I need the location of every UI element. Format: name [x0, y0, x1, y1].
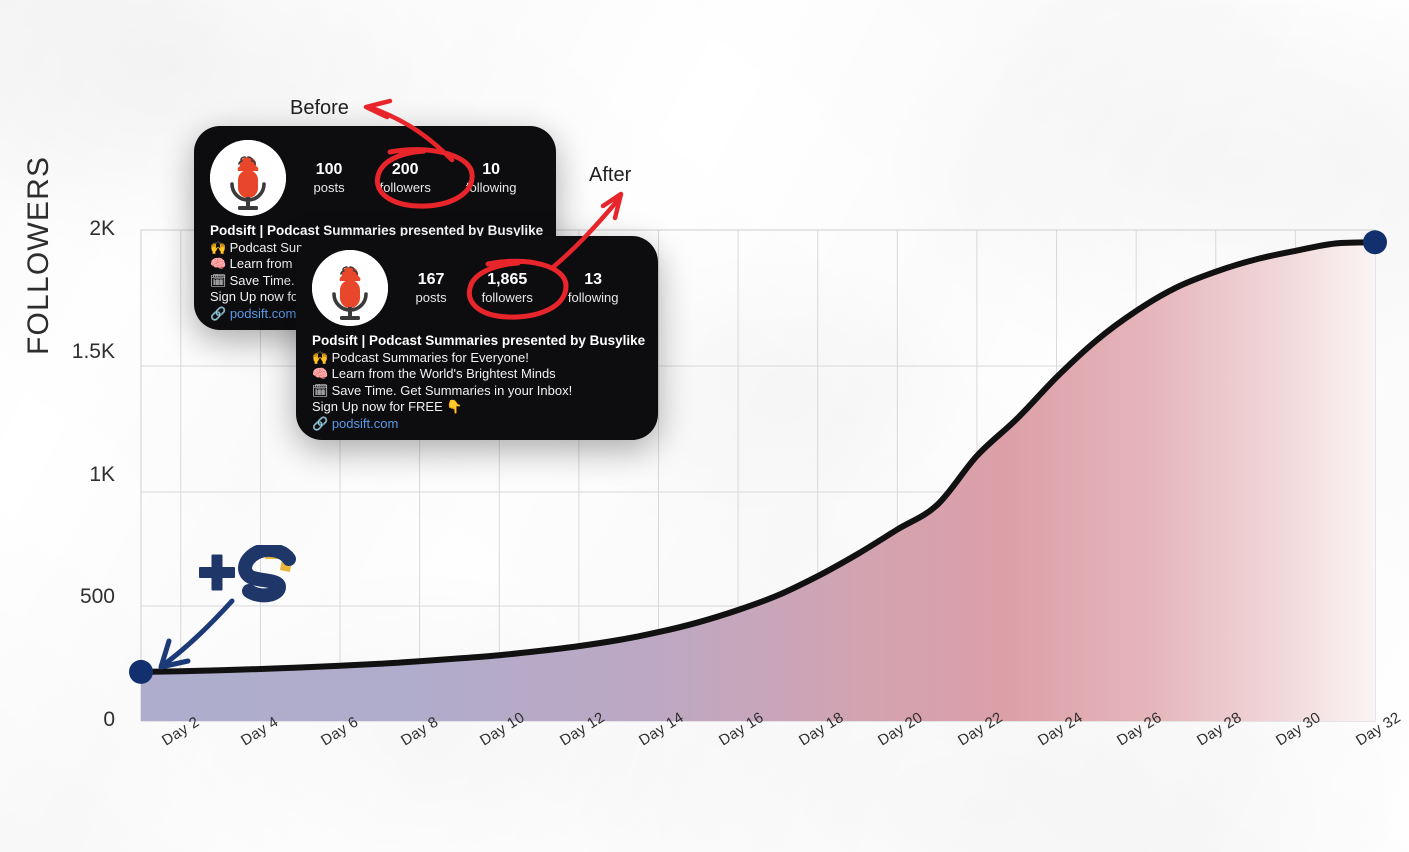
stat-value: 10	[466, 160, 517, 180]
stat-value: 200	[380, 160, 431, 180]
y-axis-title: FOLLOWERS	[22, 156, 56, 355]
stat-value: 13	[568, 270, 619, 290]
bio-title: Podsift | Podcast Summaries presented by…	[312, 332, 642, 350]
brain-emoji-icon: 🧠	[312, 366, 328, 383]
profile-header-before: 100 posts 200 followers 10 following	[194, 126, 556, 222]
y-tick-500: 500	[45, 585, 115, 609]
y-tick-1K: 1K	[45, 463, 115, 487]
profile-bio-after: Podsift | Podcast Summaries presented by…	[296, 332, 658, 432]
stat-following-after: 13 following	[568, 270, 619, 306]
bio-link-text: podsift.com	[332, 416, 398, 431]
after-label: After	[589, 164, 631, 187]
link-chain-icon: 🔗	[210, 306, 226, 321]
stat-posts-before: 100 posts	[314, 160, 345, 196]
stat-followers-before: 200 followers	[380, 160, 431, 196]
stat-following-before: 10 following	[466, 160, 517, 196]
stat-label: followers	[482, 290, 533, 306]
bio-line: 🗓 Save Time. Get Summaries in your Inbox…	[312, 383, 642, 400]
y-tick-2K: 2K	[45, 217, 115, 241]
start-point-marker	[129, 660, 153, 684]
raised-hands-emoji-icon: 🙌	[312, 350, 328, 367]
stat-label: posts	[416, 290, 447, 306]
bio-line: 🙌 Podcast Summaries for Everyone!	[312, 350, 642, 367]
stat-value: 1,865	[482, 270, 533, 290]
bio-line: 🧠 Learn from the World's Brightest Minds	[312, 366, 642, 383]
bio-link-text: podsift.com	[230, 306, 296, 321]
podcast-brain-microphone-icon	[312, 250, 388, 326]
raised-hands-emoji-icon: 🙌	[210, 240, 226, 257]
end-point-marker	[1363, 230, 1387, 254]
brain-emoji-icon: 🧠	[210, 256, 226, 273]
stat-label: following	[466, 180, 517, 196]
podcast-brain-microphone-icon	[210, 140, 286, 216]
chart-canvas: FOLLOWERS 05001K1.5K2K Day 2Day 4Day 6Da…	[0, 0, 1409, 852]
stat-followers-after: 1,865 followers	[482, 270, 533, 306]
profile-stats-before: 100 posts 200 followers 10 following	[296, 160, 540, 196]
stat-value: 167	[416, 270, 447, 290]
bio-line-text: Podcast Summaries for Everyone!	[332, 350, 529, 365]
stat-label: following	[568, 290, 619, 306]
stat-posts-after: 167 posts	[416, 270, 447, 306]
bio-line-text: Learn from the World's Brightest Minds	[332, 366, 556, 381]
bio-website-link[interactable]: 🔗 podsift.com	[312, 416, 642, 433]
before-label: Before	[290, 97, 349, 120]
bio-line-text: Save Time. Get Summaries in your Inbox!	[332, 383, 573, 398]
bio-cta: Sign Up now for FREE 👇	[312, 399, 642, 416]
calendar-emoji-icon: 🗓	[312, 383, 328, 400]
y-tick-0: 0	[45, 708, 115, 732]
y-tick-1.5K: 1.5K	[45, 340, 115, 364]
stat-label: followers	[380, 180, 431, 196]
stat-label: posts	[314, 180, 345, 196]
profile-header-after: 167 posts 1,865 followers 13 following	[296, 236, 658, 332]
profile-avatar-after[interactable]	[312, 250, 388, 326]
stat-value: 100	[314, 160, 345, 180]
calendar-emoji-icon: 🗓	[210, 273, 226, 290]
profile-avatar-before[interactable]	[210, 140, 286, 216]
profile-stats-after: 167 posts 1,865 followers 13 following	[398, 270, 642, 306]
instagram-profile-card-after[interactable]: 167 posts 1,865 followers 13 following P…	[296, 236, 658, 440]
link-chain-icon: 🔗	[312, 416, 328, 431]
